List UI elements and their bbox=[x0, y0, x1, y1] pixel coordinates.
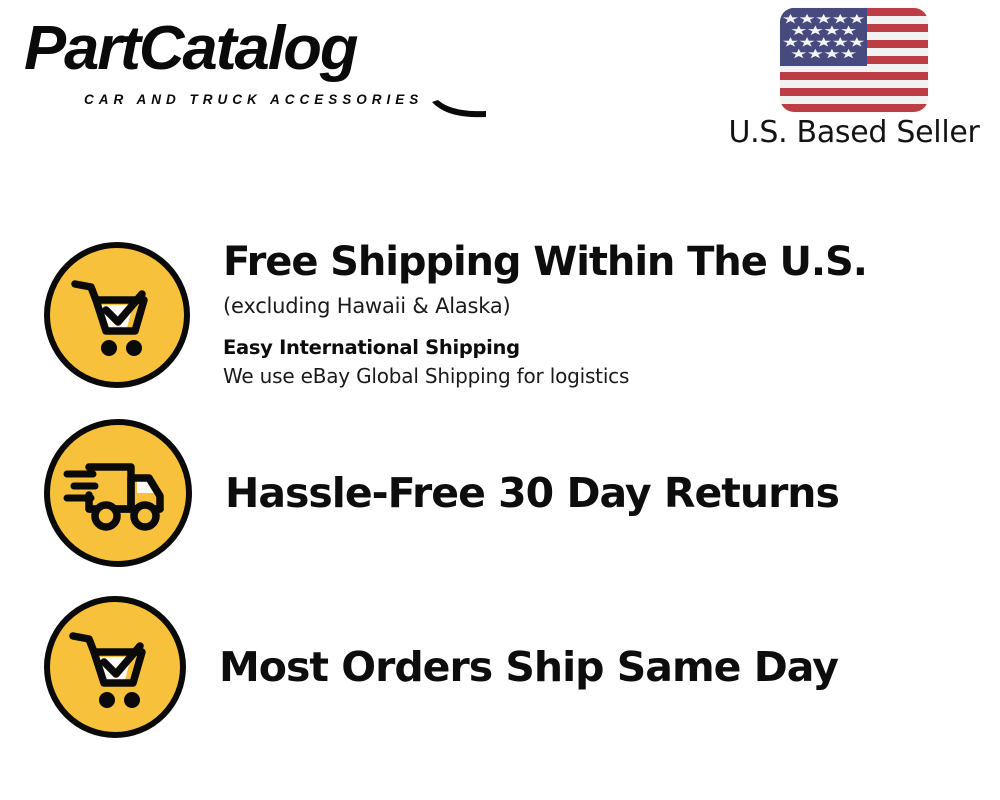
brand-wordmark: PartCatalog bbox=[24, 18, 356, 80]
brand-tagline: CAR AND TRUCK ACCESSORIES bbox=[84, 92, 423, 107]
feature-text-returns: Hassle-Free 30 Day Returns bbox=[225, 471, 1000, 515]
seller-badge-label: U.S. Based Seller bbox=[728, 116, 979, 149]
feature-subtitle-strong: Easy International Shipping bbox=[223, 336, 980, 359]
brand-logo: PartCatalog CAR AND TRUCK ACCESSORIES bbox=[24, 18, 494, 118]
us-flag-icon bbox=[780, 8, 928, 112]
shipping-info-banner: { "brand": { "wordmark": "PartCatalog", … bbox=[0, 0, 1000, 800]
feature-text-same-day-ship: Most Orders Ship Same Day bbox=[219, 645, 1000, 689]
feature-subtitle-note: We use eBay Global Shipping for logistic… bbox=[223, 364, 980, 389]
feature-title: Hassle-Free 30 Day Returns bbox=[225, 471, 980, 515]
shopping-cart-check-icon bbox=[44, 242, 190, 388]
feature-row-returns: Hassle-Free 30 Day Returns bbox=[0, 418, 1000, 568]
feature-subtitle: (excluding Hawaii & Alaska) bbox=[223, 293, 980, 319]
feature-list: Free Shipping Within The U.S. (excluding… bbox=[0, 180, 1000, 800]
delivery-truck-glyph bbox=[63, 447, 173, 539]
feature-title: Free Shipping Within The U.S. bbox=[223, 241, 980, 284]
flag-stars bbox=[780, 8, 867, 66]
page-header: PartCatalog CAR AND TRUCK ACCESSORIES bbox=[0, 0, 1000, 180]
feature-text-free-shipping: Free Shipping Within The U.S. (excluding… bbox=[223, 241, 1000, 389]
cart-check-glyph bbox=[63, 617, 167, 717]
shopping-cart-check-icon bbox=[44, 596, 186, 738]
feature-row-free-shipping: Free Shipping Within The U.S. (excluding… bbox=[0, 235, 1000, 395]
us-based-seller-badge: U.S. Based Seller bbox=[720, 8, 988, 149]
feature-row-same-day-ship: Most Orders Ship Same Day bbox=[0, 592, 1000, 742]
cart-check-glyph bbox=[65, 265, 169, 365]
feature-title: Most Orders Ship Same Day bbox=[219, 645, 980, 689]
delivery-truck-icon bbox=[44, 419, 192, 567]
